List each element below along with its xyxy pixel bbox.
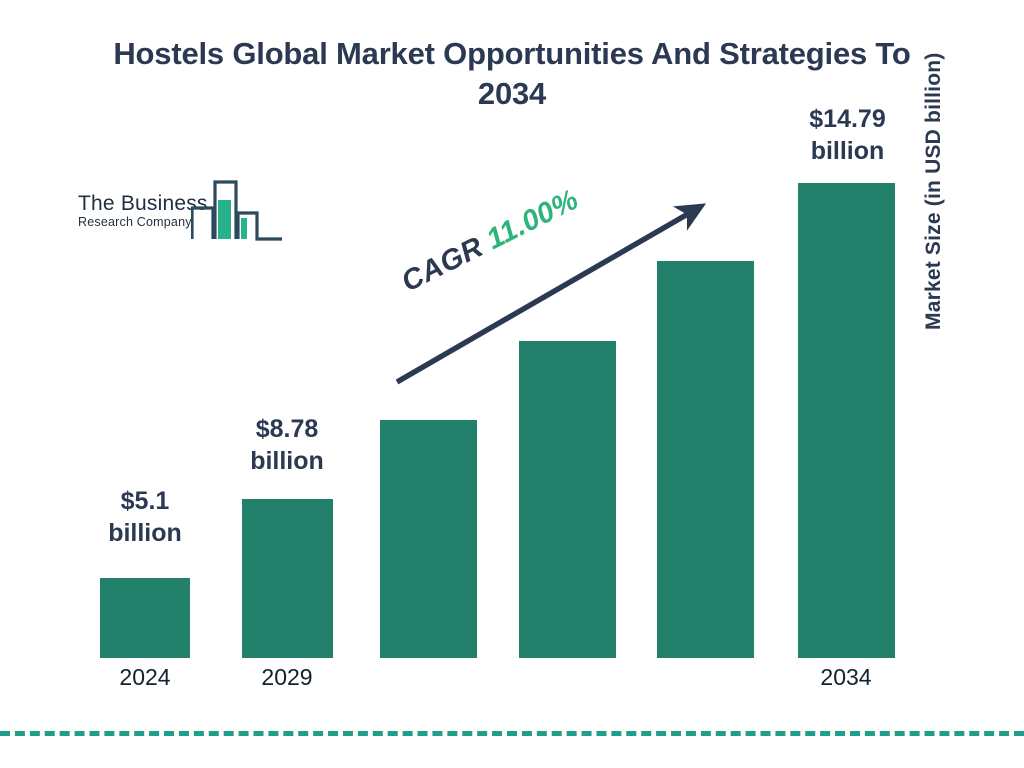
value-label-2034: $14.79 billion [775, 103, 920, 167]
value-unit: billion [775, 135, 920, 167]
value-label-2024: $5.1 billion [85, 485, 205, 549]
bar-2024[interactable] [100, 578, 190, 658]
value-label-2029: $8.78 billion [222, 413, 352, 477]
value-amount: $5.1 [85, 485, 205, 517]
x-axis-label-2034: 2034 [786, 664, 906, 691]
y-axis-title: Market Size (in USD billion) [922, 53, 946, 330]
value-amount: $14.79 [775, 103, 920, 135]
bar-2034[interactable] [798, 183, 895, 658]
value-unit: billion [85, 517, 205, 549]
x-axis-label-2029: 2029 [227, 664, 347, 691]
bar-3[interactable] [380, 420, 477, 658]
bar-2029[interactable] [242, 499, 333, 658]
x-axis-label-2024: 2024 [85, 664, 205, 691]
chart-canvas: Hostels Global Market Opportunities And … [0, 0, 1024, 768]
value-amount: $8.78 [222, 413, 352, 445]
value-unit: billion [222, 445, 352, 477]
footer-divider [0, 731, 1024, 736]
